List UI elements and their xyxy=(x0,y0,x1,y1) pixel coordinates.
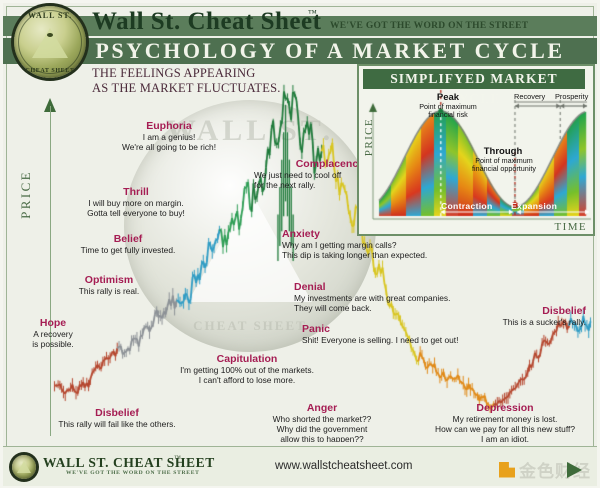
inset-bracket-recovery: Recovery xyxy=(514,92,545,101)
annotation-thrill: Thrill I will buy more on margin. Gotta … xyxy=(56,186,216,218)
annotation-line: My investments are with great companies. xyxy=(294,293,504,303)
footer: WALL ST. CHEAT SHEET ™ WE'VE GOT THE WOR… xyxy=(3,446,597,486)
annotation-line: This is a sucker's rally. xyxy=(406,317,586,327)
annotation-line: Gotta tell everyone to buy! xyxy=(56,208,216,218)
inset-phase-contraction: Contraction xyxy=(441,201,493,211)
inset-trough-sub-line: financial opportunity xyxy=(445,165,563,173)
inset-chart-simplified-market-cycle: SIMPLIFYED MARKET CYCLE Peak Point of ma… xyxy=(357,64,595,236)
inset-peak-sub-line: financial risk xyxy=(393,111,503,119)
inset-x-axis-label: TIME xyxy=(555,221,587,233)
footer-tagline: WE'VE GOT THE WORD ON THE STREET xyxy=(66,470,200,476)
brand-trademark: ™ xyxy=(308,8,317,18)
annotation-title: Hope xyxy=(10,317,96,329)
annotation-title: Optimism xyxy=(34,274,184,286)
annotation-anger: Anger Who shorted the market?? Why did t… xyxy=(244,402,400,442)
inset-peak-sub: Point of maximum financial risk xyxy=(393,103,503,120)
annotation-title: Euphoria xyxy=(94,120,244,132)
footer-pyramid-icon xyxy=(17,461,31,473)
annotation-complacency: Complacency We just need to cool off for… xyxy=(254,158,372,190)
infographic-page: WALL ST. CHEAT SHEET Wall St. Cheat Shee… xyxy=(0,0,600,488)
all-seeing-eye-icon xyxy=(47,33,53,37)
annotation-capitulation: Capitulation I'm getting 100% out of the… xyxy=(152,353,342,385)
annotation-line: I am an idiot. xyxy=(410,434,594,442)
watermark-mark-icon xyxy=(499,462,515,478)
price-axis-line xyxy=(50,106,51,436)
footer-seal-logo xyxy=(12,455,36,479)
inset-trough-sub: Point of maximum financial opportunity xyxy=(445,157,563,174)
annotation-line: Who shorted the market?? xyxy=(244,414,400,424)
annotation-line: for the next rally. xyxy=(254,180,372,190)
annotation-title: Disbelief xyxy=(406,305,586,317)
annotation-line: A recovery xyxy=(10,329,96,339)
brand-tagline: WE'VE GOT THE WORD ON THE STREET xyxy=(330,21,528,31)
annotation-line: My retirement money is lost. xyxy=(410,414,594,424)
annotation-optimism: Optimism This rally is real. xyxy=(34,274,184,296)
time-axis-arrow-icon xyxy=(567,462,582,478)
annotation-title: Denial xyxy=(294,281,504,293)
annotation-title: Thrill xyxy=(56,186,216,198)
annotation-line: Shit! Everyone is selling. I need to get… xyxy=(302,335,522,345)
annotation-line: We just need to cool off xyxy=(254,170,372,180)
annotation-line: Time to get fully invested. xyxy=(48,245,208,255)
annotation-title: Capitulation xyxy=(152,353,342,365)
footer-trademark: ™ xyxy=(174,454,181,462)
inset-y-axis-label: PRICE xyxy=(363,118,375,156)
annotation-title: Disbelief xyxy=(32,407,202,419)
annotation-depression: Depression My retirement money is lost. … xyxy=(410,402,594,442)
inset-bracket-prosperity: Prosperity xyxy=(555,92,588,101)
annotation-line: We're all going to be rich! xyxy=(94,142,244,152)
inset-phase-expansion: Expansion xyxy=(511,201,557,211)
annotation-euphoria: Euphoria I am a genius! We're all going … xyxy=(94,120,244,152)
annotation-line: Why am I getting margin calls? xyxy=(282,240,492,250)
annotation-line: I can't afford to lose more. xyxy=(152,375,342,385)
annotation-line: This dip is taking longer than expected. xyxy=(282,250,492,260)
annotation-title: Complacency xyxy=(254,158,364,170)
seal-bottom-text: CHEAT SHEET xyxy=(14,68,86,74)
annotation-title: Depression xyxy=(410,402,594,414)
footer-brand: WALL ST. CHEAT SHEET xyxy=(43,455,215,471)
annotation-line: I'm getting 100% out of the markets. xyxy=(152,365,342,375)
footer-website-url[interactable]: www.wallstcheatsheet.com xyxy=(275,460,412,472)
annotation-line: How can we pay for all this new stuff? xyxy=(410,424,594,434)
annotation-belief: Belief Time to get fully invested. xyxy=(48,233,208,255)
annotation-line: is possible. xyxy=(10,339,96,349)
annotation-title: Belief xyxy=(48,233,208,245)
annotation-hope: Hope A recovery is possible. xyxy=(10,317,96,349)
annotation-line: allow this to happen?? xyxy=(244,434,400,442)
brand-title: Wall St. Cheat Sheet xyxy=(92,8,321,36)
annotation-line: I will buy more on margin. xyxy=(56,198,216,208)
price-axis-label: PRICE xyxy=(18,170,34,219)
annotation-line: This rally will fail like the others. xyxy=(32,419,202,429)
annotation-title: Anger xyxy=(244,402,400,414)
annotation-line: This rally is real. xyxy=(34,286,184,296)
seal-top-text: WALL ST. xyxy=(14,11,86,20)
annotation-line: I am a genius! xyxy=(94,132,244,142)
annotation-disbelief-right: Disbelief This is a sucker's rally. xyxy=(406,305,586,327)
page-title: PSYCHOLOGY OF A MARKET CYCLE xyxy=(0,38,600,64)
annotation-disbelief-left: Disbelief This rally will fail like the … xyxy=(32,407,202,429)
annotation-line: Why did the government xyxy=(244,424,400,434)
